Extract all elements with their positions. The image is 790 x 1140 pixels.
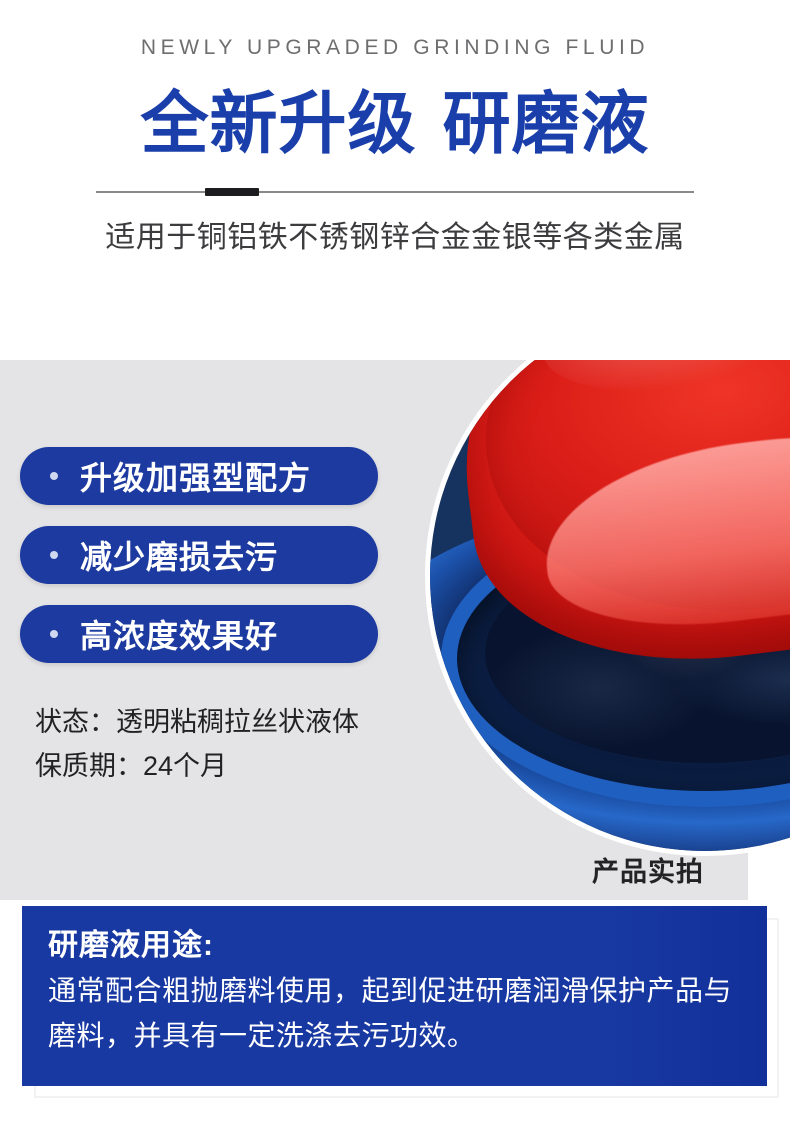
feature-pill[interactable]: 高浓度效果好 — [20, 605, 378, 663]
usage-title: 研磨液用途: — [48, 924, 741, 968]
product-detail-page: NEWLY UPGRADED GRINDING FLUID 全新升级研磨液 适用… — [0, 0, 790, 1140]
product-photo-image: 研磨 YAN MO JIN CHENG — [430, 301, 790, 851]
header-subtitle: 适用于铜铝铁不锈钢锌合金金银等各类金属 — [0, 212, 790, 256]
feature-label: 减少磨损去污 — [80, 532, 278, 578]
photo-caption: 产品实拍 — [592, 850, 704, 889]
feature-pill[interactable]: 升级加强型配方 — [20, 447, 378, 505]
divider-accent-bar — [205, 188, 259, 196]
header-eyebrow: NEWLY UPGRADED GRINDING FLUID — [0, 36, 790, 60]
usage-body: 通常配合粗抛磨料使用，起到促进研磨润滑保护产品与磨料，并具有一定洗涤去污功效。 — [48, 968, 741, 1058]
usage-box: 研磨液用途: 通常配合粗抛磨料使用，起到促进研磨润滑保护产品与磨料，并具有一定洗… — [22, 906, 767, 1086]
product-photo: 研磨 YAN MO JIN CHENG — [425, 296, 790, 856]
header-section: NEWLY UPGRADED GRINDING FLUID 全新升级研磨液 适用… — [0, 0, 790, 360]
page-title-part-1: 全新升级 — [140, 86, 416, 162]
spec-list: 状态：透明粘稠拉丝状液体 保质期：24个月 — [35, 700, 359, 788]
divider-line — [96, 191, 694, 193]
bullet-dot-icon — [50, 551, 58, 559]
page-title: 全新升级研磨液 — [0, 82, 790, 166]
title-divider — [96, 186, 694, 198]
spec-state: 状态：透明粘稠拉丝状液体 — [35, 700, 359, 744]
bullet-dot-icon — [50, 472, 58, 480]
feature-label: 升级加强型配方 — [80, 453, 311, 499]
spec-shelf-life: 保质期：24个月 — [35, 744, 359, 788]
feature-pill[interactable]: 减少磨损去污 — [20, 526, 378, 584]
page-title-part-2: 研磨液 — [443, 86, 650, 162]
feature-list: 升级加强型配方 减少磨损去污 高浓度效果好 — [20, 447, 378, 684]
bullet-dot-icon — [50, 630, 58, 638]
feature-label: 高浓度效果好 — [80, 611, 278, 657]
